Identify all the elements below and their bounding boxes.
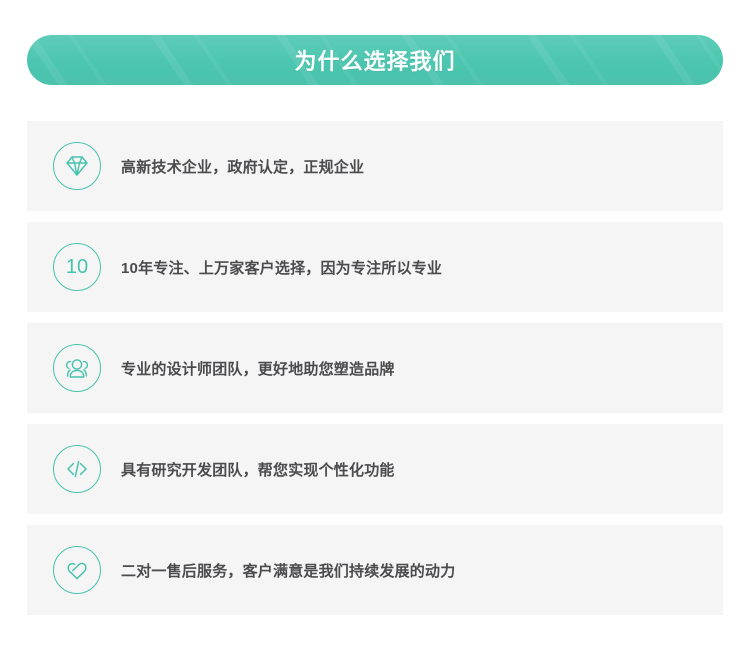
number-ten-label: 10 — [66, 257, 88, 277]
heart-icon — [53, 546, 101, 594]
list-item: 具有研究开发团队，帮您实现个性化功能 — [27, 424, 723, 514]
list-item: 二对一售后服务，客户满意是我们持续发展的动力 — [27, 525, 723, 615]
list-item-label: 专业的设计师团队，更好地助您塑造品牌 — [121, 358, 395, 379]
list-item-label: 10年专注、上万家客户选择，因为专注所以专业 — [121, 257, 442, 278]
list-item: 10 10年专注、上万家客户选择，因为专注所以专业 — [27, 222, 723, 312]
number-ten-icon: 10 — [53, 243, 101, 291]
users-group-icon — [53, 344, 101, 392]
diamond-icon — [53, 142, 101, 190]
list-item-label: 高新技术企业，政府认定，正规企业 — [121, 156, 364, 177]
why-choose-us-panel: 为什么选择我们 高新技术企业，政府认定，正规企业 10 10年专注、上万家客户选… — [0, 0, 750, 663]
list-item: 高新技术企业，政府认定，正规企业 — [27, 121, 723, 211]
page-title: 为什么选择我们 — [27, 35, 723, 85]
list-item-label: 具有研究开发团队，帮您实现个性化功能 — [121, 459, 395, 480]
list-item: 专业的设计师团队，更好地助您塑造品牌 — [27, 323, 723, 413]
feature-list: 高新技术企业，政府认定，正规企业 10 10年专注、上万家客户选择，因为专注所以… — [27, 121, 723, 626]
section-header-banner: 为什么选择我们 — [27, 35, 723, 85]
list-item-label: 二对一售后服务，客户满意是我们持续发展的动力 — [121, 560, 455, 581]
code-brackets-icon — [53, 445, 101, 493]
